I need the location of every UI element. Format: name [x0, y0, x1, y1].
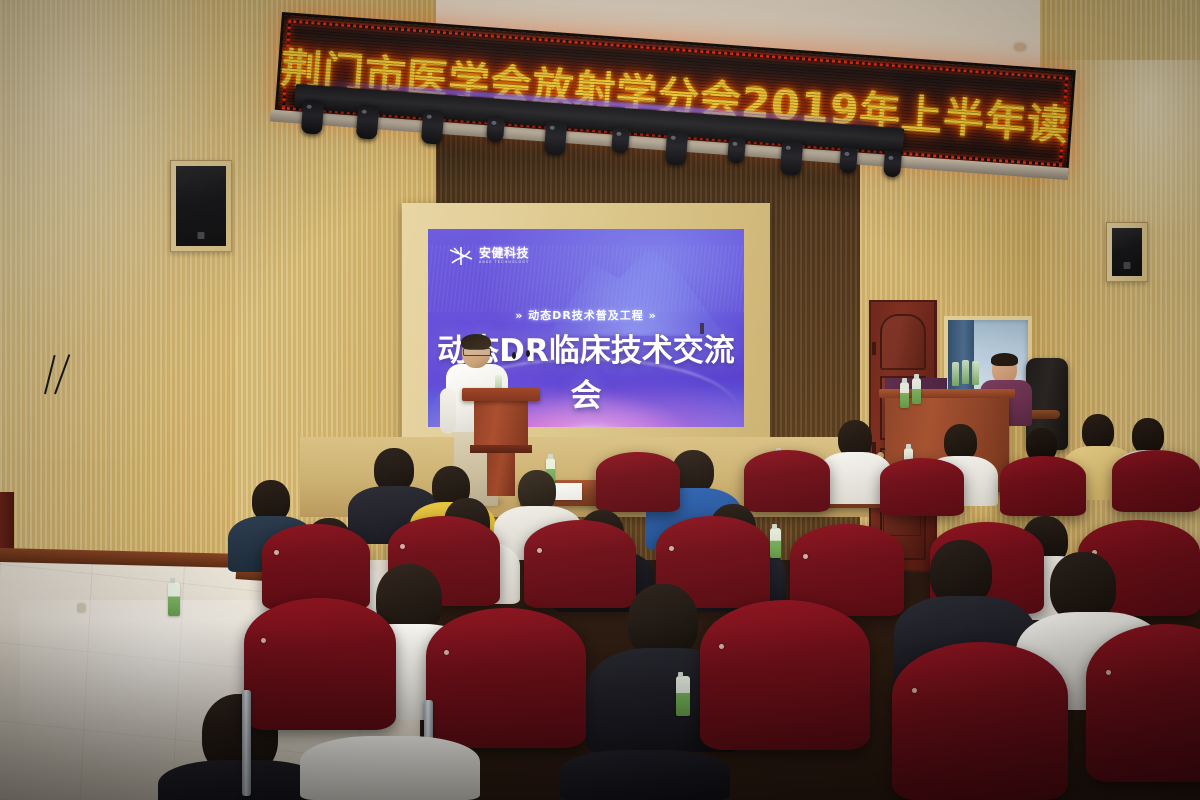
speaker-cone-icon [1112, 228, 1142, 276]
spotlight-icon [486, 115, 505, 142]
seat-button [803, 554, 808, 559]
auditorium-seat [700, 600, 870, 750]
auditorium-seat [1086, 624, 1200, 782]
bottle [168, 582, 180, 616]
wall-speaker-left [170, 160, 232, 252]
spotlight-icon [883, 150, 902, 177]
audience-shoulders [300, 736, 480, 800]
presenter-arm-left [440, 388, 456, 434]
spotlight-icon [544, 120, 567, 155]
microphone-icon [512, 352, 516, 359]
audience-shoulders [560, 750, 730, 800]
speaker-cone-icon [176, 166, 226, 246]
seat-button [274, 550, 279, 555]
auditorium-seat [524, 520, 636, 608]
slide-marker [700, 323, 704, 334]
audience-head [1082, 414, 1114, 450]
door-panel-top [880, 314, 926, 370]
seat-button [1106, 670, 1111, 675]
door-hinge-icon [872, 342, 876, 355]
conference-room-photo: 荆门市医学会放射学分会2019年上半年读片会 [0, 0, 1200, 800]
audience-head [1132, 418, 1164, 454]
spotlight-icon [665, 130, 688, 165]
glasses-icon [463, 348, 491, 356]
spotlight-icon [727, 136, 746, 163]
seat-button [261, 638, 266, 643]
spotlight-icon [356, 104, 379, 139]
anke-logo-icon [448, 245, 474, 267]
podium-column [487, 453, 515, 496]
spotlight-icon [611, 126, 630, 153]
slide-logo-text: 安健科技 ANKE TECHNOLOGY [479, 247, 529, 264]
bottle [676, 676, 690, 716]
bottle [912, 378, 921, 404]
spotlight-icon [780, 140, 803, 175]
wall-outlet-icon [78, 604, 85, 612]
auditorium-seat [426, 608, 586, 748]
bottle [952, 362, 959, 386]
bottle [900, 382, 909, 408]
spotlight-icon [839, 146, 858, 173]
slide-logo: 安健科技 ANKE TECHNOLOGY [448, 245, 529, 267]
seat-button [400, 544, 405, 549]
seat-button [537, 548, 542, 553]
wall-speaker-right [1106, 222, 1148, 282]
bottle [770, 528, 781, 558]
microphone-icon [526, 350, 530, 357]
ceiling-vent-icon [1014, 43, 1026, 51]
seat-button [912, 688, 917, 693]
auditorium-seat [1000, 456, 1086, 516]
auditorium-seat [244, 598, 396, 730]
seat-button [444, 650, 449, 655]
bottle [962, 360, 969, 384]
person-hair [991, 353, 1018, 366]
auditorium-seat [880, 458, 964, 516]
auditorium-seat [744, 450, 830, 512]
podium-body [474, 401, 528, 449]
seat-button [669, 546, 674, 551]
spotlight-icon [421, 109, 444, 144]
auditorium-seat [1112, 450, 1200, 512]
auditorium-seat [892, 642, 1068, 800]
spotlight-icon [301, 99, 324, 134]
podium-band [470, 445, 532, 453]
slide-logo-en: ANKE TECHNOLOGY [479, 261, 529, 264]
podium-top [462, 388, 540, 401]
slide-subtitle: » 动态DR技术普及工程 » [428, 307, 744, 323]
seat-leg [242, 690, 251, 796]
seat-button [719, 644, 724, 649]
slide-logo-cn: 安健科技 [479, 247, 529, 259]
auditorium-seat [596, 452, 680, 512]
